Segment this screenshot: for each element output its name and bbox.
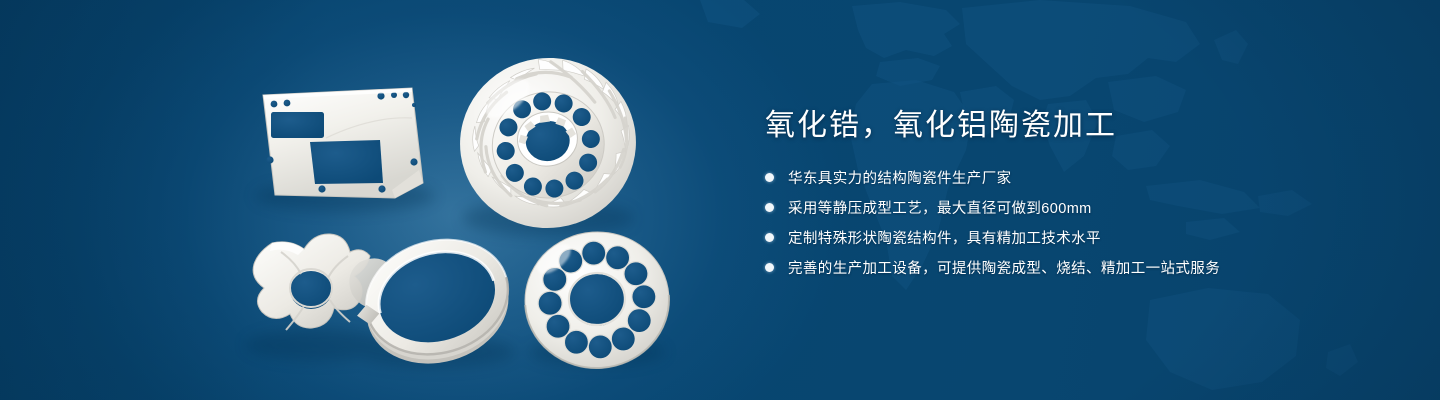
product-photo-group	[0, 0, 760, 400]
list-item: 定制特殊形状陶瓷结构件，具有精加工技术水平	[765, 226, 1385, 249]
feature-list: 华东具实力的结构陶瓷件生产厂家 采用等静压成型工艺，最大直径可做到600mm 定…	[765, 166, 1385, 279]
bullet-dot-icon	[765, 233, 774, 242]
page-title: 氧化锆，氧化铝陶瓷加工	[765, 108, 1385, 144]
bullet-dot-icon	[765, 203, 774, 212]
list-item-label: 采用等静压成型工艺，最大直径可做到600mm	[788, 197, 1092, 218]
list-item-label: 定制特殊形状陶瓷结构件，具有精加工技术水平	[788, 227, 1101, 248]
list-item: 采用等静压成型工艺，最大直径可做到600mm	[765, 196, 1385, 219]
list-item: 华东具实力的结构陶瓷件生产厂家	[765, 166, 1385, 189]
bullet-dot-icon	[765, 263, 774, 272]
banner-copy: 氧化锆，氧化铝陶瓷加工 华东具实力的结构陶瓷件生产厂家 采用等静压成型工艺，最大…	[765, 108, 1385, 286]
hero-banner: 氧化锆，氧化铝陶瓷加工 华东具实力的结构陶瓷件生产厂家 采用等静压成型工艺，最大…	[0, 0, 1440, 400]
list-item: 完善的生产加工设备，可提供陶瓷成型、烧结、精加工一站式服务	[765, 256, 1385, 279]
bullet-dot-icon	[765, 173, 774, 182]
list-item-label: 完善的生产加工设备，可提供陶瓷成型、烧结、精加工一站式服务	[788, 257, 1220, 278]
ceramic-plate	[263, 88, 423, 198]
list-item-label: 华东具实力的结构陶瓷件生产厂家	[788, 167, 1012, 188]
